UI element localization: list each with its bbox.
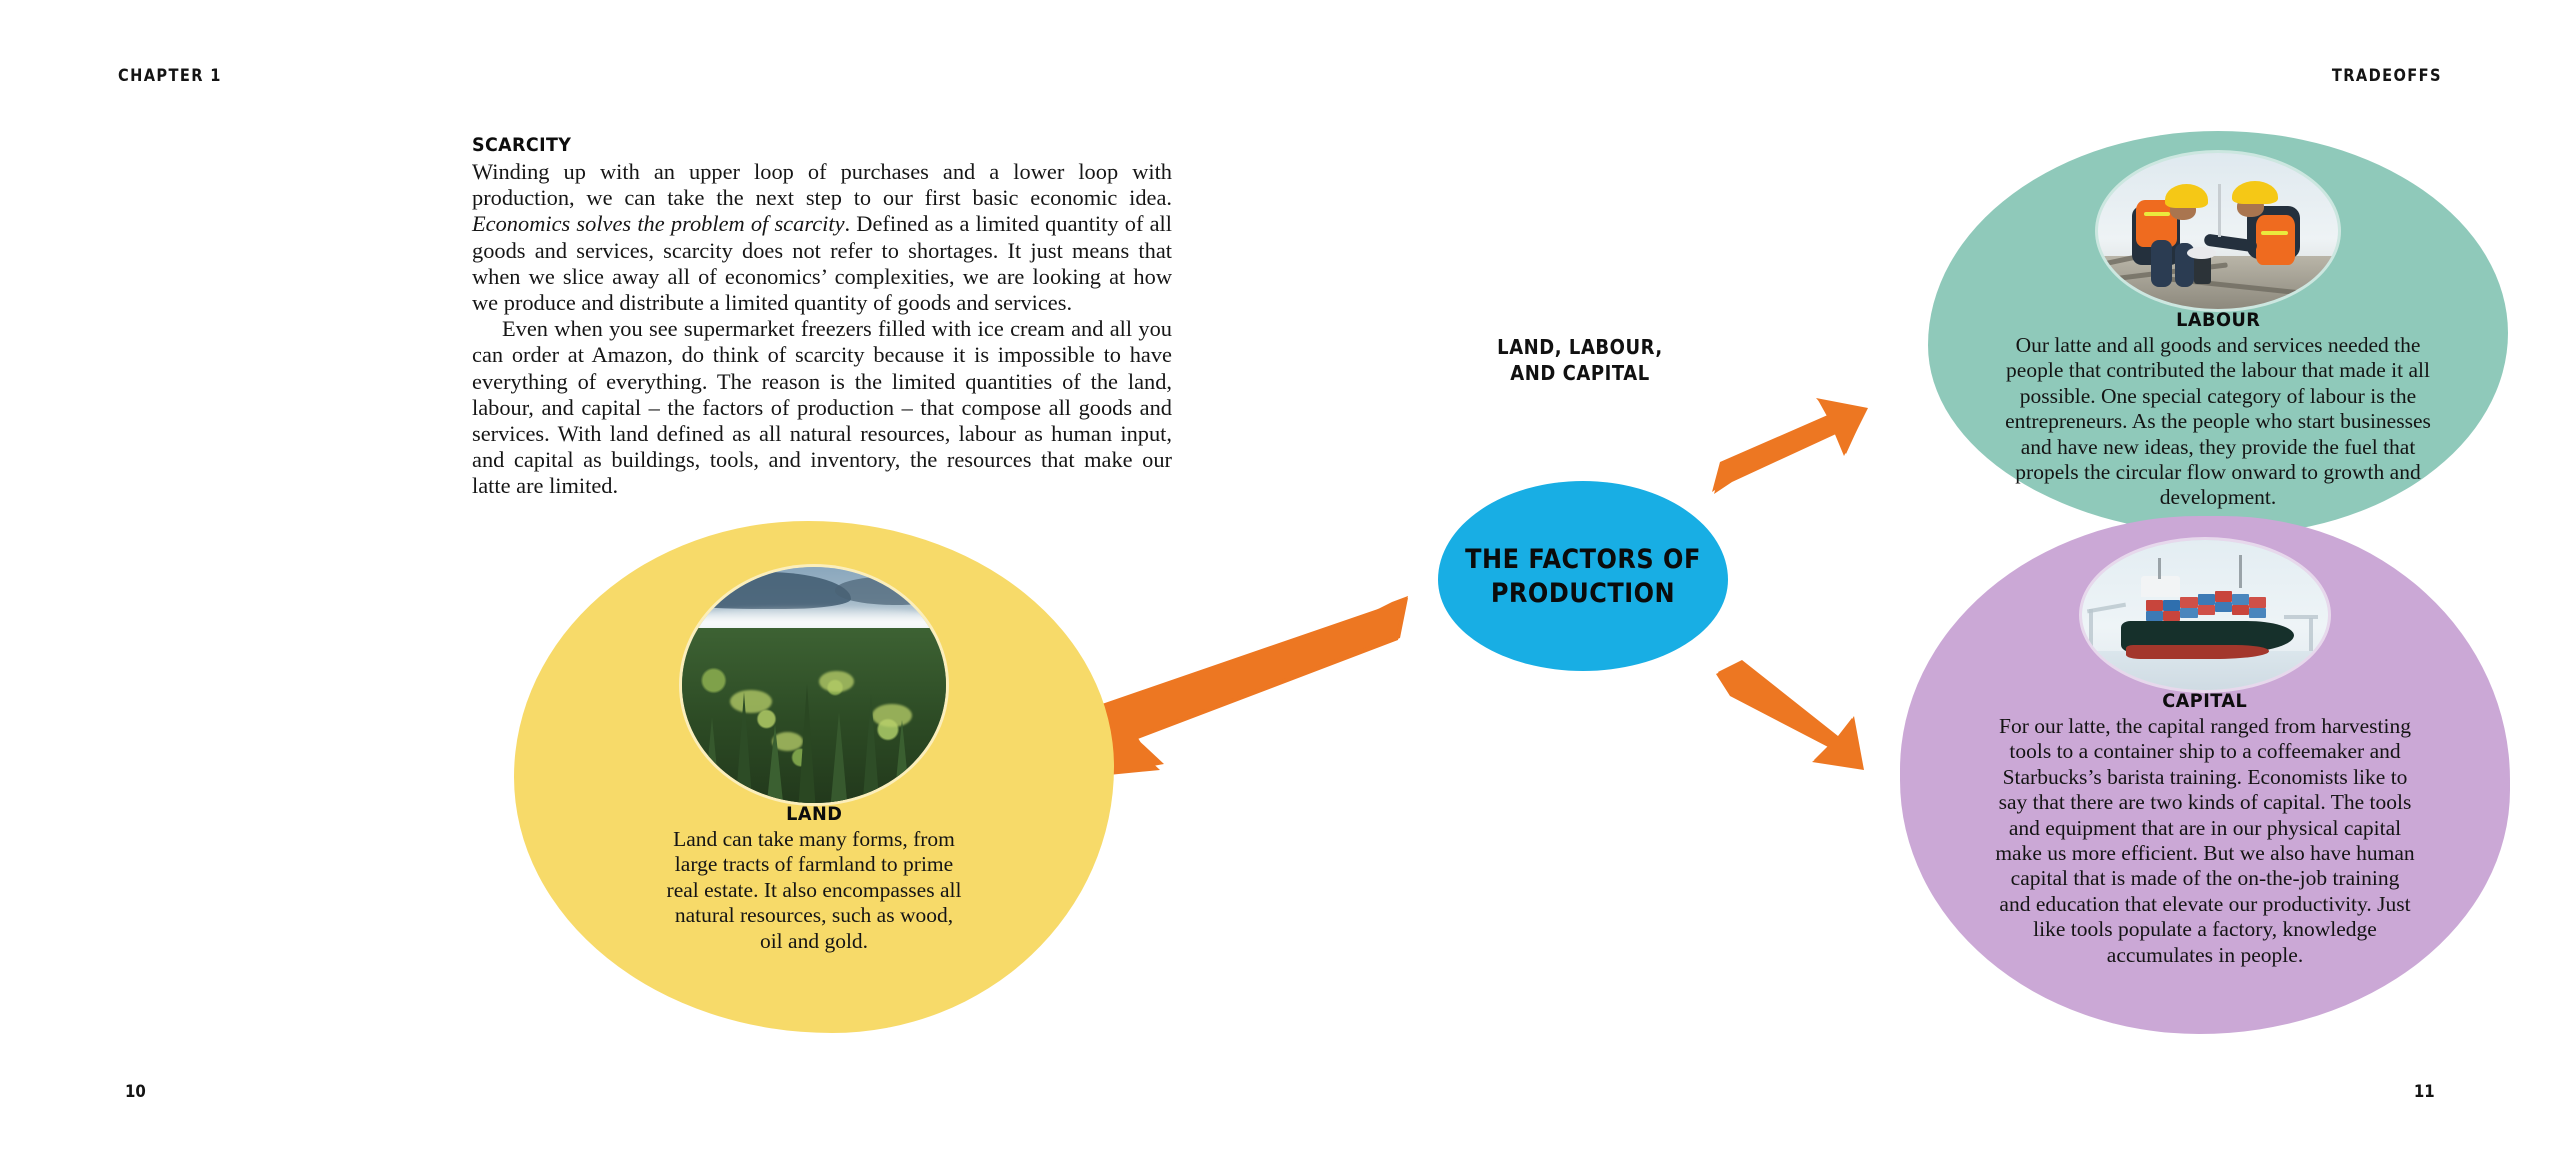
node-labour-title: LABOUR <box>2176 309 2260 331</box>
node-capital[interactable]: CAPITAL For our latte, the capital range… <box>1900 516 2510 1034</box>
node-land-body: Land can take many forms, from large tra… <box>664 827 964 954</box>
container-ship-photo <box>2082 540 2328 690</box>
hub-label-line-1: THE FACTORS OF <box>1465 542 1701 576</box>
paragraph-scarcity-1: Winding up with an upper loop of purchas… <box>472 159 1172 316</box>
section-heading: SCARCITY <box>472 134 1116 156</box>
arrow-to-capital <box>1712 660 1912 810</box>
diagram-caption-line-1: LAND, LABOUR, <box>1418 334 1742 360</box>
hub-node-factors-of-production[interactable]: THE FACTORS OF PRODUCTION <box>1438 481 1728 671</box>
forest-photo <box>682 567 946 803</box>
node-capital-body: For our latte, the capital ranged from h… <box>1995 714 2415 968</box>
node-capital-title: CAPITAL <box>2162 690 2247 712</box>
running-head-right: TRADEOFFS <box>2332 66 2442 86</box>
arrow-to-labour <box>1706 398 1906 538</box>
book-spread: CHAPTER 1 TRADEOFFS 10 11 SCARCITY Windi… <box>0 0 2560 1154</box>
diagram-caption-line-2: AND CAPITAL <box>1418 360 1742 386</box>
body-text-column: SCARCITY Winding up with an upper loop o… <box>472 134 1172 500</box>
hub-label: THE FACTORS OF PRODUCTION <box>1465 542 1701 609</box>
running-head-left: CHAPTER 1 <box>118 66 222 86</box>
paragraph-1-part-1: Winding up with an upper loop of purchas… <box>472 159 1172 210</box>
page-number-right: 11 <box>2414 1082 2435 1102</box>
node-labour[interactable]: LABOUR Our latte and all goods and servi… <box>1928 131 2508 535</box>
diagram-caption: LAND, LABOUR, AND CAPITAL <box>1418 334 1742 386</box>
page-number-left: 10 <box>125 1082 146 1102</box>
node-land-title: LAND <box>786 803 842 825</box>
node-labour-body: Our latte and all goods and services nee… <box>1998 333 2438 511</box>
node-land[interactable]: LAND Land can take many forms, from larg… <box>514 521 1114 1033</box>
construction-workers-photo <box>2098 153 2338 309</box>
paragraph-1-italic-phrase: Economics solves the problem of scarcity <box>472 211 845 236</box>
paragraph-scarcity-2: Even when you see supermarket freezers f… <box>472 316 1172 499</box>
hub-label-line-2: PRODUCTION <box>1465 576 1701 610</box>
